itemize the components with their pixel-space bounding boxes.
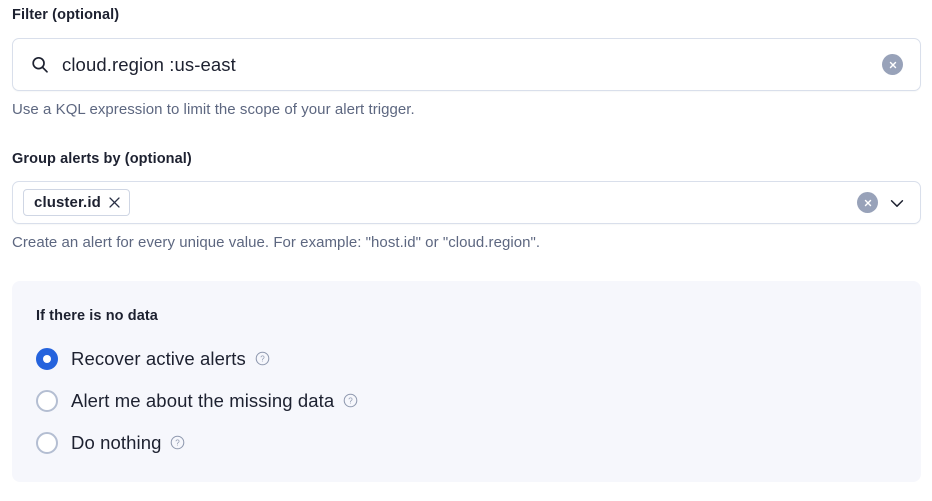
question-circle-icon[interactable]: ?	[343, 393, 358, 408]
svg-text:?: ?	[260, 355, 265, 364]
radio-label: Recover active alerts	[71, 348, 246, 370]
group-alerts-clear-button[interactable]	[857, 192, 878, 213]
radio-inner-dot	[43, 355, 51, 363]
group-alerts-block: Group alerts by (optional) cluster.id	[12, 150, 921, 253]
alert-rule-form: Filter (optional) Use a KQL expression t…	[0, 0, 932, 501]
filter-input[interactable]	[62, 54, 882, 76]
svg-text:?: ?	[349, 397, 354, 406]
question-circle-icon[interactable]: ?	[255, 351, 270, 366]
radio-option-alert-missing-data[interactable]: Alert me about the missing data ?	[36, 385, 358, 416]
search-icon	[30, 55, 50, 75]
chevron-down-icon[interactable]	[886, 192, 908, 214]
filter-search-bar[interactable]	[12, 38, 921, 91]
selected-field-label: cluster.id	[34, 195, 101, 210]
svg-text:?: ?	[176, 439, 181, 448]
radio-indicator	[36, 348, 58, 370]
question-circle-icon[interactable]: ?	[170, 435, 185, 450]
group-alerts-combobox[interactable]: cluster.id	[12, 181, 921, 224]
filter-field-block: Filter (optional) Use a KQL expression t…	[12, 6, 921, 120]
radio-indicator	[36, 432, 58, 454]
radio-indicator	[36, 390, 58, 412]
no-data-title: If there is no data	[36, 307, 921, 325]
combobox-actions	[857, 192, 908, 214]
group-alerts-help-text: Create an alert for every unique value. …	[12, 233, 921, 253]
radio-option-recover-active-alerts[interactable]: Recover active alerts ?	[36, 343, 270, 374]
radio-option-do-nothing[interactable]: Do nothing ?	[36, 427, 185, 458]
filter-help-text: Use a KQL expression to limit the scope …	[12, 100, 921, 120]
radio-label: Do nothing	[71, 432, 161, 454]
filter-clear-button[interactable]	[882, 54, 903, 75]
no-data-panel: If there is no data Recover active alert…	[12, 281, 921, 482]
cross-icon[interactable]	[108, 196, 121, 209]
filter-label: Filter (optional)	[12, 6, 921, 24]
radio-label: Alert me about the missing data	[71, 390, 334, 412]
selected-field-pill[interactable]: cluster.id	[23, 189, 130, 216]
group-alerts-label: Group alerts by (optional)	[12, 150, 921, 168]
